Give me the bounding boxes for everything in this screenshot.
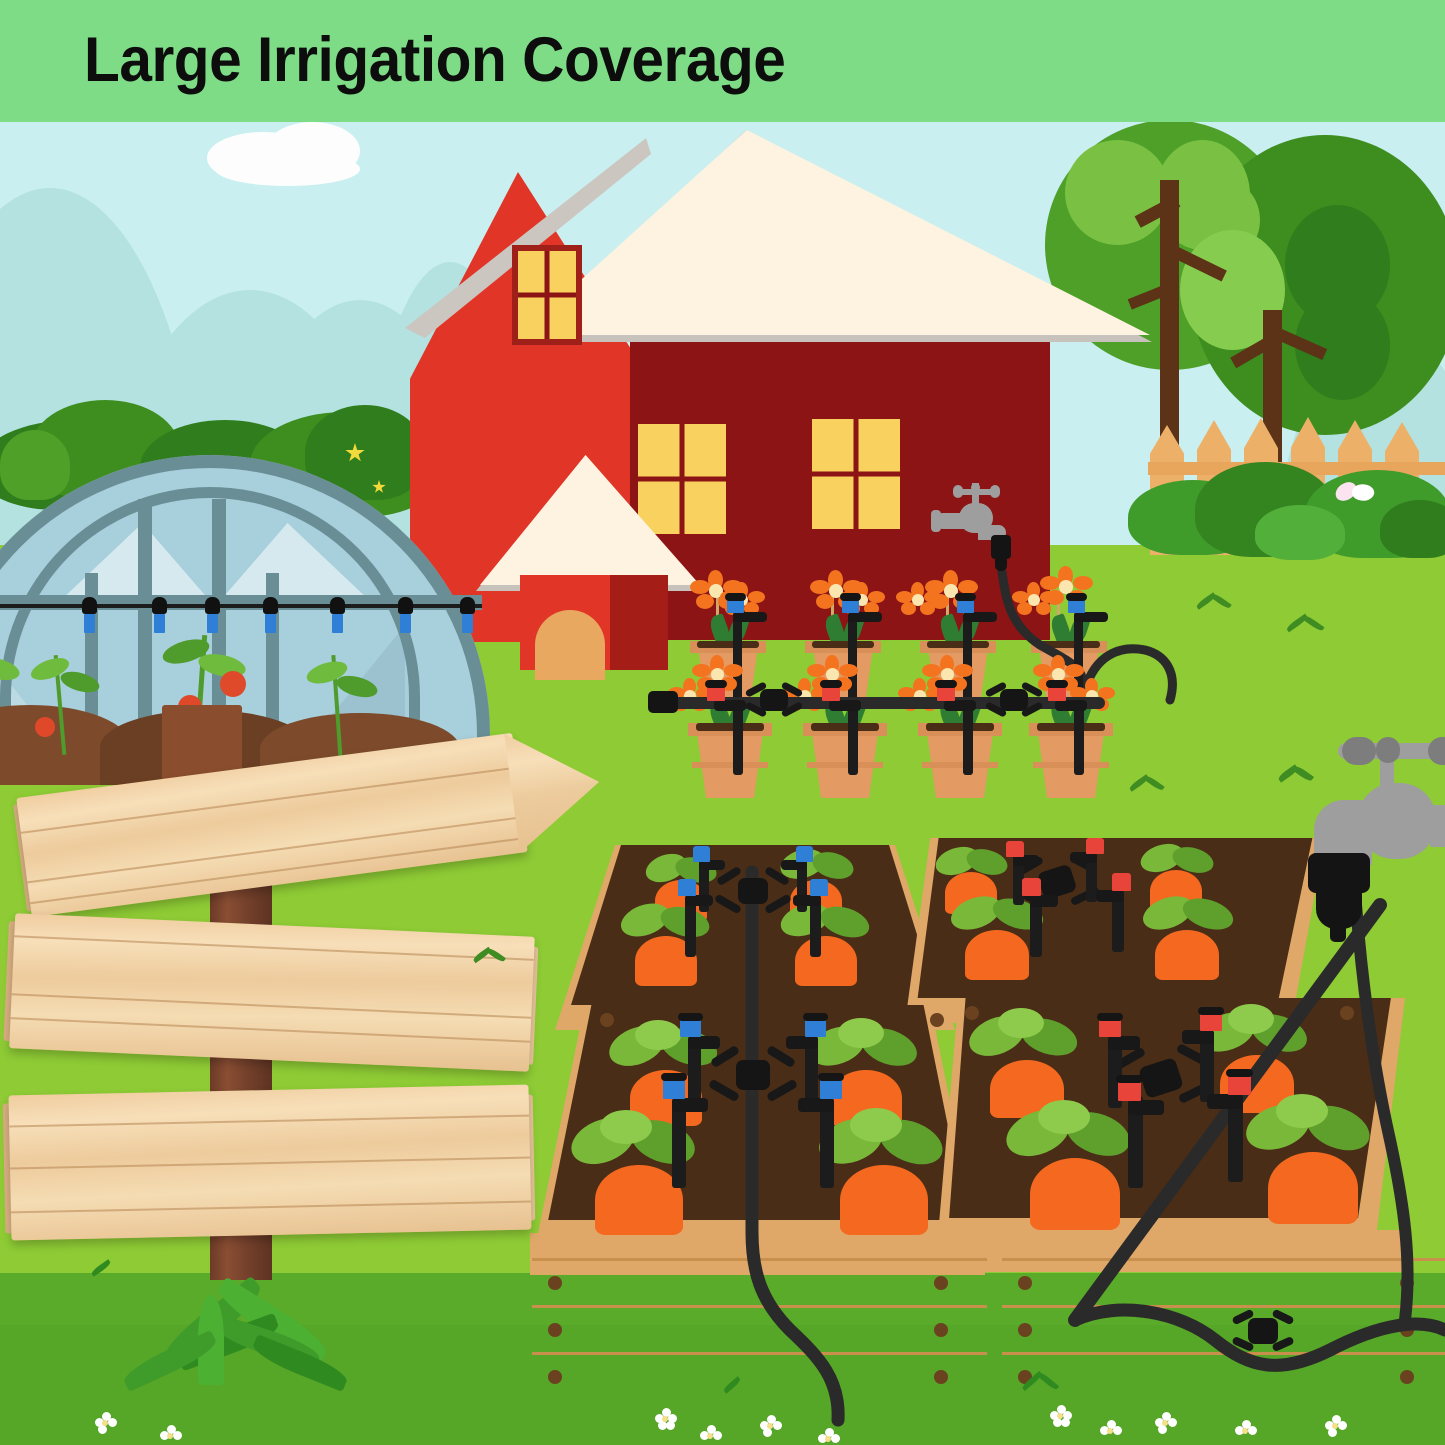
sprinkler-arm xyxy=(1096,890,1124,902)
daisy-center xyxy=(767,1423,773,1429)
bed-screw xyxy=(548,1323,562,1337)
carrot-leaf xyxy=(1228,1004,1274,1034)
window-mullion-horizontal xyxy=(812,472,900,477)
bed-screw xyxy=(1400,1276,1414,1290)
bed-rail-screw xyxy=(1340,1006,1354,1020)
faucet-handle-center xyxy=(1376,737,1400,763)
mister-head-icon xyxy=(398,597,413,614)
sign-board xyxy=(9,1085,532,1241)
greenhouse-mister-6[interactable] xyxy=(398,597,413,633)
sprinkler-arm xyxy=(793,895,821,906)
carrot-leaf xyxy=(850,1108,902,1142)
sprinkler-head xyxy=(725,593,746,601)
bed-soil xyxy=(555,845,955,1005)
sprinkler-arm xyxy=(1030,895,1058,907)
bed-screw xyxy=(1018,1323,1032,1337)
bed-plank-line xyxy=(532,1352,987,1355)
bed-screw xyxy=(934,1323,948,1337)
sprinkler-head xyxy=(678,1013,703,1021)
sign-plank-line xyxy=(11,1201,531,1214)
daisy-petal xyxy=(173,1431,182,1440)
bed-front-wall xyxy=(935,1230,1405,1272)
sprinkler-cap-blue xyxy=(820,1078,842,1099)
sprinkler-arm xyxy=(1207,1094,1243,1109)
sprinkler-arm xyxy=(1074,612,1108,622)
orange-flower xyxy=(896,582,942,620)
mister-head-icon xyxy=(82,597,97,614)
carrot-root xyxy=(1268,1152,1358,1224)
daisy-center xyxy=(167,1433,173,1439)
bush-right-e xyxy=(1380,500,1445,558)
sprinkler-cap-blue xyxy=(678,879,696,896)
bed-plank-line xyxy=(532,1305,987,1308)
sprinkler-cap-blue xyxy=(810,879,828,896)
sprinkler-head xyxy=(818,1073,844,1081)
pot-soil xyxy=(927,641,989,648)
connector-hub xyxy=(738,878,768,904)
mister-head-icon xyxy=(152,597,167,614)
greenhouse-mister-4[interactable] xyxy=(263,597,278,633)
flower-petal xyxy=(958,580,978,594)
sprinkler-arm xyxy=(786,1036,818,1049)
sign-plank-line xyxy=(12,993,532,1019)
pot-soil xyxy=(1037,723,1105,731)
greenhouse xyxy=(0,455,490,785)
daisy-center xyxy=(707,1433,713,1439)
header-banner: Large Irrigation Coverage xyxy=(0,0,1445,122)
mister-head-icon xyxy=(460,597,475,614)
sprinkler-head xyxy=(935,680,957,688)
sprinkler-head xyxy=(705,680,727,688)
flower-center xyxy=(912,594,924,606)
faucet-wall-flange xyxy=(931,510,941,532)
window-front-left xyxy=(632,418,732,540)
connector-hub xyxy=(736,1060,770,1090)
sprinkler-head xyxy=(1116,1075,1143,1083)
sprinkler-arm xyxy=(685,895,713,906)
sprinkler-head xyxy=(661,1073,687,1081)
sprinkler-head xyxy=(840,593,861,601)
bed-screw xyxy=(548,1276,562,1290)
greenhouse-mister-7[interactable] xyxy=(460,597,475,633)
sprinkler-stake[interactable] xyxy=(963,700,973,775)
carrot-leaf xyxy=(838,1018,884,1048)
tomato-fruit xyxy=(35,717,55,737)
pot-soil xyxy=(696,723,764,731)
bed-screw xyxy=(1400,1323,1414,1337)
sprinkler-cap-blue xyxy=(663,1078,685,1099)
sprinkler-cap-red xyxy=(1022,878,1041,896)
connector-hub xyxy=(760,689,788,711)
bed-rail-screw xyxy=(930,1013,944,1027)
pot-soil xyxy=(697,641,759,648)
sprinkler-arm xyxy=(688,1036,720,1049)
connector-hub xyxy=(1248,1318,1278,1344)
daisy-petal xyxy=(98,1425,107,1434)
bed-front-wall xyxy=(530,1233,985,1275)
flower-pot-band xyxy=(1033,762,1109,768)
sprinkler-arm xyxy=(733,612,767,622)
mister-head-icon xyxy=(205,597,220,614)
sign-plank-line xyxy=(10,1157,530,1170)
sprinkler-arm xyxy=(963,612,997,622)
sign-plank-line xyxy=(14,935,534,961)
orange-flower xyxy=(1012,582,1058,620)
sprinkler-arm xyxy=(798,1098,834,1112)
carrot-root xyxy=(965,930,1029,980)
sprinkler-arm xyxy=(1108,1036,1140,1050)
flower-petal xyxy=(1073,576,1093,590)
flower-petal xyxy=(1065,664,1084,677)
mister-nozzle xyxy=(462,614,473,633)
daisy-petal xyxy=(1328,1428,1337,1437)
window-front-right xyxy=(806,413,906,535)
pot-soil xyxy=(1038,641,1100,648)
flower-petal xyxy=(1033,664,1052,677)
sign-connector-spec[interactable]: 10 x 1/2"to 1/4" Four Wayconnector xyxy=(9,1085,532,1241)
bed-screw xyxy=(934,1370,948,1384)
sprinkler-head xyxy=(1198,1007,1224,1015)
carrot-root xyxy=(1155,930,1219,980)
daisy-center xyxy=(1242,1428,1248,1434)
sprinkler-stake[interactable] xyxy=(848,700,858,775)
greenhouse-mister-5[interactable] xyxy=(330,597,345,633)
flower-petal xyxy=(810,580,830,594)
daisy-petal xyxy=(1248,1426,1257,1435)
carrot-root xyxy=(1030,1158,1120,1230)
flower-petal xyxy=(1012,591,1029,603)
bed-rail-screw xyxy=(965,1006,979,1020)
flower-center xyxy=(1059,580,1073,594)
sprinkler-head xyxy=(820,680,842,688)
flower-petal xyxy=(954,664,973,677)
faucet-handle-knob-left xyxy=(1342,737,1376,765)
bed-screw xyxy=(1018,1276,1032,1290)
daisy-petal xyxy=(1113,1426,1122,1435)
flower-center xyxy=(1028,594,1040,606)
sign-plank-line xyxy=(9,1115,529,1128)
bed-plank-line xyxy=(1002,1305,1445,1308)
daisy-petal xyxy=(108,1418,117,1427)
sign-plank-line xyxy=(11,1017,531,1043)
flower-petal xyxy=(896,591,913,603)
greenhouse-mister-1[interactable] xyxy=(82,597,97,633)
flower-pot-band xyxy=(692,762,768,768)
mister-head-icon xyxy=(330,597,345,614)
daisy-center xyxy=(662,1416,668,1422)
bush-right-d xyxy=(1255,505,1345,560)
bed-rail-screw xyxy=(600,1013,614,1027)
sprinkler-arm xyxy=(829,700,861,711)
sprinkler-head xyxy=(1066,593,1087,601)
faucet-inlet xyxy=(1430,805,1445,847)
sprinkler-stake[interactable] xyxy=(1074,700,1084,775)
sprinkler-stake[interactable] xyxy=(733,700,743,775)
daisy-petal xyxy=(1338,1421,1347,1430)
flower-petal xyxy=(807,664,826,677)
house-roof xyxy=(520,130,1150,335)
pot-soil xyxy=(926,723,994,731)
flower-petal xyxy=(922,664,941,677)
pot-soil xyxy=(811,723,879,731)
flower-petal xyxy=(839,664,858,677)
window-mullion-horizontal xyxy=(518,293,576,298)
sprinkler-cap-blue xyxy=(693,846,710,862)
sprinkler-arm xyxy=(848,612,882,622)
daisy-center xyxy=(1107,1428,1113,1434)
house xyxy=(400,130,1200,640)
mister-nozzle xyxy=(332,614,343,633)
carrot-leaf xyxy=(1038,1100,1090,1134)
sign-pot-capacity[interactable]: UP TO 82 POTS xyxy=(9,913,535,1071)
daisy-petal xyxy=(763,1428,772,1437)
sprinkler-cap-red xyxy=(1112,873,1131,891)
sprinkler-cap-red xyxy=(1118,1080,1141,1101)
bed-screw xyxy=(934,1276,948,1290)
sprinkler-cap-red xyxy=(1228,1074,1251,1095)
faucet-adapter-neck xyxy=(995,555,1007,571)
bed-plank-line xyxy=(532,1258,987,1261)
connector-hub xyxy=(1000,689,1028,711)
daisy-petal xyxy=(666,1421,675,1430)
sprinkler-arm xyxy=(1128,1100,1164,1115)
mister-nozzle xyxy=(154,614,165,633)
sign-board xyxy=(9,913,535,1071)
daisy-center xyxy=(1332,1423,1338,1429)
mister-nozzle xyxy=(207,614,218,633)
daisy-center xyxy=(102,1420,108,1426)
sprinkler-head xyxy=(1046,680,1068,688)
cloud-part-c xyxy=(215,152,360,186)
sprinkler-arm xyxy=(1055,700,1087,711)
flower-petal xyxy=(690,580,710,594)
window-gable xyxy=(512,245,582,345)
sprinkler-cap-red xyxy=(1006,841,1024,857)
sprinkler-head xyxy=(955,593,976,601)
porch-wall-shade xyxy=(610,575,668,670)
daisy-petal xyxy=(1061,1418,1070,1427)
daisy-center xyxy=(825,1436,831,1442)
tomato-fruit xyxy=(220,671,246,697)
product-feature-image: Up to 300 SQ FT UP TO 82 POTS 10 x 1/2"t… xyxy=(0,0,1445,1445)
daisy-petal xyxy=(713,1431,722,1440)
daisy-petal xyxy=(773,1421,782,1430)
sprinkler-arm xyxy=(714,700,746,711)
bed-plank-line xyxy=(1002,1258,1445,1261)
sprinkler-head xyxy=(803,1013,828,1021)
mister-nozzle xyxy=(84,614,95,633)
daisy-petal xyxy=(1158,1425,1167,1434)
faucet-handle-knob-right xyxy=(990,485,1000,498)
sprinkler-arm xyxy=(944,700,976,711)
mister-nozzle xyxy=(265,614,276,633)
house-door xyxy=(535,610,605,680)
hose-end-cap-left xyxy=(648,691,678,713)
sprinkler-arm xyxy=(1182,1030,1214,1044)
carrot-leaf xyxy=(998,1008,1044,1038)
mister-head-icon xyxy=(263,597,278,614)
sprinkler-arm xyxy=(672,1098,708,1112)
faucet-handle-knob-left xyxy=(953,485,963,498)
faucet-handle-top xyxy=(971,483,980,492)
carrot-leaf xyxy=(1276,1094,1328,1128)
sprinkler-head xyxy=(1226,1069,1253,1077)
window-mullion-horizontal xyxy=(638,477,726,482)
sprinkler-cap-blue xyxy=(796,846,813,862)
daisy-petal xyxy=(1168,1418,1177,1427)
greenhouse-mister-3[interactable] xyxy=(205,597,220,633)
flower-pot-band xyxy=(922,762,998,768)
carrot-root xyxy=(795,936,857,986)
greenhouse-mister-2[interactable] xyxy=(152,597,167,633)
pot-soil xyxy=(812,641,874,648)
carrot-root xyxy=(840,1165,928,1235)
daisy-center xyxy=(1057,1413,1063,1419)
flower-petal xyxy=(692,664,711,677)
page-title: Large Irrigation Coverage xyxy=(84,24,785,96)
flower-petal xyxy=(724,664,743,677)
sprinkler-head xyxy=(1097,1013,1123,1021)
bed-plank-line xyxy=(1002,1352,1445,1355)
daisy-center xyxy=(1162,1420,1168,1426)
sprinkler-cap-red xyxy=(1086,838,1104,854)
mister-nozzle xyxy=(400,614,411,633)
carrot-root xyxy=(595,1165,683,1235)
bed-screw xyxy=(1400,1370,1414,1384)
carrot-leaf xyxy=(600,1110,652,1144)
flower-pot-band xyxy=(807,762,883,768)
faucet-adapter-neck xyxy=(1330,920,1346,942)
daisy-petal xyxy=(831,1434,840,1443)
carrot-leaf xyxy=(635,1020,681,1050)
bed-screw xyxy=(548,1370,562,1384)
